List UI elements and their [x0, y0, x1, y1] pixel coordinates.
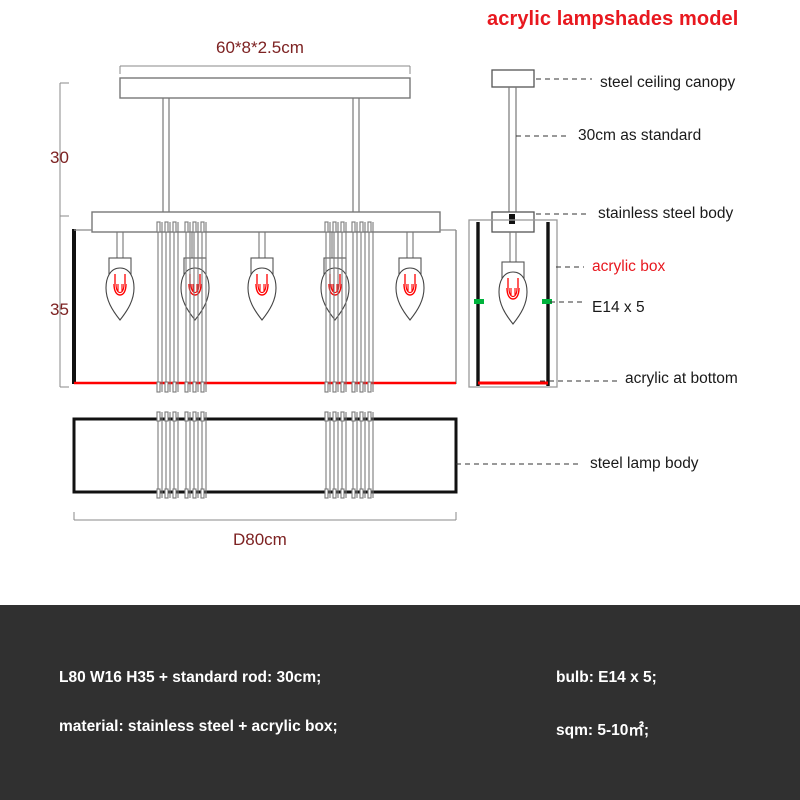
top-dimension-line: [120, 66, 410, 74]
side-bulb: [499, 232, 527, 324]
spec-material: material: stainless steel + acrylic box;: [59, 718, 338, 736]
side-steel-body: [492, 212, 534, 232]
diagram-canvas: acrylic lampshades model: [0, 0, 800, 800]
bottom-dimension-line: [74, 512, 456, 520]
left-dimension-line: [60, 83, 69, 387]
callout-acrylic-box: acrylic box: [592, 258, 665, 276]
spec-bulb: bulb: E14 x 5;: [556, 669, 657, 687]
side-drop-rod: [509, 87, 516, 212]
side-ceiling-canopy: [492, 70, 534, 87]
dimension-body-height: 35: [50, 300, 69, 320]
spec-footer-panel: L80 W16 H35 + standard rod: 30cm; materi…: [0, 605, 800, 800]
dimension-rod-height: 30: [50, 148, 69, 168]
front-bulb-group: [106, 232, 424, 320]
spec-size: L80 W16 H35 + standard rod: 30cm;: [59, 669, 321, 687]
callout-steel-ceiling-canopy: steel ceiling canopy: [600, 74, 735, 92]
plan-rod-clusters: [157, 412, 373, 498]
callout-acrylic-at-bottom: acrylic at bottom: [625, 370, 738, 388]
dimension-top-bar: 60*8*2.5cm: [216, 38, 304, 58]
plan-lamp-body: [74, 419, 456, 492]
callout-standard-rod: 30cm as standard: [578, 127, 701, 145]
front-steel-body-bar: [92, 212, 440, 232]
suspension-rods: [163, 98, 359, 214]
callout-e14-bulbs: E14 x 5: [592, 299, 645, 317]
ceiling-mount-bar: [120, 78, 410, 98]
dimension-width: D80cm: [233, 530, 287, 550]
spec-sqm: sqm: 5-10㎡;: [556, 718, 649, 740]
callout-steel-lamp-body: steel lamp body: [590, 455, 699, 473]
callout-stainless-steel-body: stainless steel body: [598, 205, 733, 223]
